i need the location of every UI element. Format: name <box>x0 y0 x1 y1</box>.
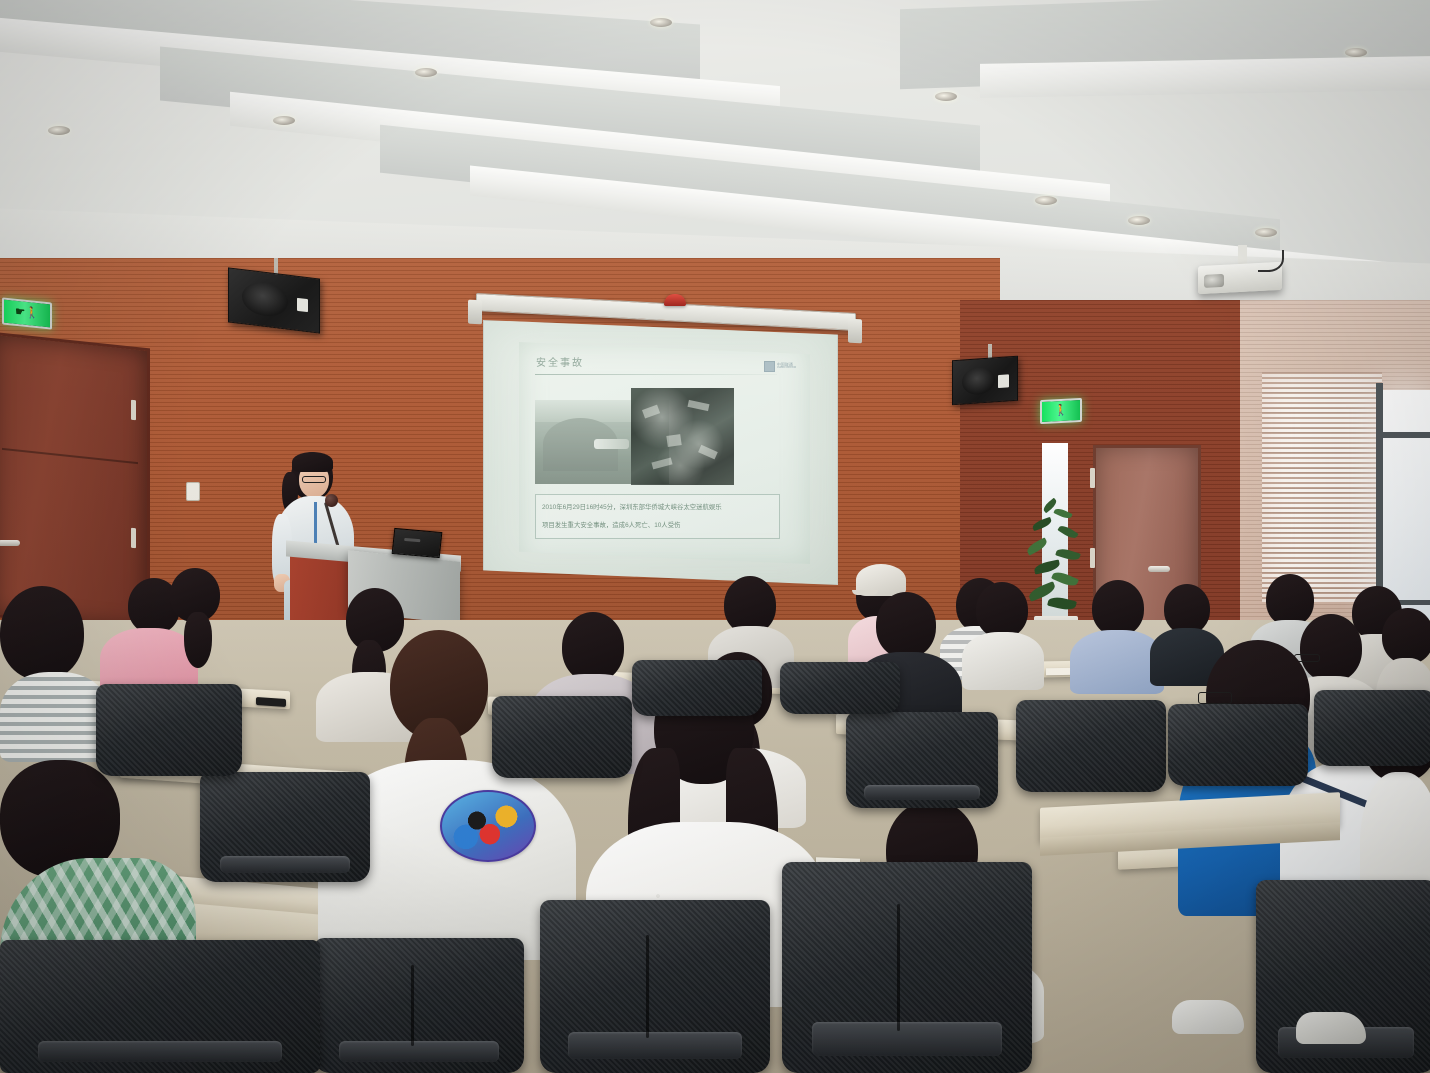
photo-ride-structure <box>594 439 629 448</box>
chair-row-far-2[interactable] <box>780 662 900 714</box>
attendee-ponytail <box>184 612 212 668</box>
exit-sign-left: ☛🚶 <box>2 297 52 329</box>
attendee-head <box>976 582 1028 638</box>
exit-running-man-icon: ☛🚶 <box>15 307 39 320</box>
debris-fragment <box>666 434 682 447</box>
chair-row3-center[interactable] <box>492 696 632 778</box>
downlight-1 <box>415 68 437 77</box>
attendee-near-left-striped <box>0 586 110 756</box>
attendee-head <box>1092 580 1144 636</box>
chair-slot <box>411 965 414 1046</box>
chair-foreground-right[interactable] <box>782 862 1032 1073</box>
chair-row3-right[interactable] <box>846 712 998 808</box>
downlight-5 <box>935 92 957 101</box>
door-right-handle[interactable] <box>1148 566 1170 572</box>
door-left-hinge-top <box>131 400 136 421</box>
presenter-hair-front <box>292 452 333 472</box>
speaker-badge <box>998 374 1009 388</box>
slide-caption-line-2: 项目发生重大安全事故，造成6人死亡、10人受伤 <box>542 520 680 529</box>
downlight-9 <box>1255 228 1277 237</box>
mickey-mouse-graphic <box>440 790 536 862</box>
plant-leaf <box>1031 517 1053 531</box>
logo-text-secondary: CHINA UNICOM <box>777 367 796 370</box>
laptop-logo <box>404 538 420 542</box>
slide-title: 安全事故 <box>536 354 584 369</box>
chair-foreground-far-right[interactable] <box>1256 880 1430 1073</box>
door-left-seam <box>2 447 138 463</box>
projector-lens <box>1204 274 1224 288</box>
door-right-hinge-top <box>1090 468 1095 488</box>
chair-slot <box>897 904 900 1031</box>
attendee-head <box>1164 584 1210 634</box>
speaker-right <box>952 356 1018 406</box>
downlight-7 <box>1345 48 1367 57</box>
plant-leaf <box>1053 507 1072 521</box>
chair-row-far-1[interactable] <box>632 660 762 716</box>
attendee-torso <box>962 632 1044 690</box>
chair-lumbar-support <box>864 785 980 800</box>
chair-row2-left[interactable] <box>200 772 370 882</box>
light-switch[interactable] <box>186 482 200 501</box>
speaker-badge <box>297 298 308 312</box>
shoe-1 <box>1172 1000 1244 1034</box>
downlight-3 <box>48 126 70 135</box>
plant-leaf <box>1025 537 1049 555</box>
attendee-torso <box>0 672 110 762</box>
microphone-head <box>325 494 338 507</box>
chair-lumbar-support <box>568 1032 743 1060</box>
speaker-cone <box>962 366 995 396</box>
debris-fragment <box>642 405 660 419</box>
presenter-badge-lanyard <box>314 502 317 546</box>
chair-row4-right[interactable] <box>1168 704 1308 786</box>
lecture-room-photo: ☛🚶 🚶 <box>0 0 1430 1073</box>
attendee-head <box>0 586 84 680</box>
screen-endcap-left <box>468 300 482 325</box>
downlight-6 <box>1035 196 1057 205</box>
attendee-mid-right-2 <box>962 582 1046 686</box>
slide-photo-wreckage <box>631 388 734 485</box>
downlight-8 <box>1128 216 1150 225</box>
exit-sign-right: 🚶 <box>1040 398 1082 424</box>
chair-row3-far-right[interactable] <box>1016 700 1166 792</box>
laptop[interactable] <box>392 528 443 558</box>
chair-slot <box>646 935 649 1039</box>
window-mullion-horizontal <box>1376 432 1430 438</box>
chair-lumbar-support <box>220 856 349 874</box>
attendee-back-left-2 <box>164 568 230 678</box>
attendee-head <box>876 592 936 658</box>
slide-caption-box: 2010年6月29日16时45分，深圳东部华侨城大峡谷太空迷航娱乐 项目发生重大… <box>535 494 780 539</box>
exit-running-man-icon-2: 🚶 <box>1054 405 1068 417</box>
debris-fragment <box>698 445 717 459</box>
slide-title-rule <box>535 374 777 375</box>
fire-alarm-indicator <box>664 294 686 306</box>
presenter-glasses <box>302 476 326 483</box>
chair-foreground-center[interactable] <box>540 900 770 1073</box>
logo-mark-icon <box>764 361 775 372</box>
door-left-handle[interactable] <box>0 540 20 546</box>
chair-row3-left[interactable] <box>96 684 242 776</box>
chair-row2-left-2[interactable] <box>0 940 320 1073</box>
chair-lumbar-support <box>339 1041 499 1063</box>
debris-fragment <box>651 457 672 469</box>
slide-logo: 中国联通 CHINA UNICOM <box>764 361 796 372</box>
speaker-cone <box>242 280 289 320</box>
plant-leaf <box>1057 523 1078 540</box>
chair-lumbar-support <box>38 1041 281 1062</box>
downlight-4 <box>650 18 672 27</box>
shoe-2 <box>1296 1012 1366 1044</box>
chair-row4-far-right[interactable] <box>1314 690 1430 766</box>
attendee-glasses <box>1198 692 1232 704</box>
downlight-2 <box>273 116 295 125</box>
slide-caption-line-1: 2010年6月29日16时45分，深圳东部华侨城大峡谷太空迷航娱乐 <box>542 502 722 511</box>
window-blinds[interactable] <box>1262 372 1382 602</box>
debris-fragment <box>687 400 709 411</box>
chair-lumbar-support <box>812 1022 1002 1056</box>
screen-endcap-right <box>848 319 862 344</box>
slide: 安全事故 中国联通 CHINA UNICOM 2010年6月29日16时45分，… <box>519 342 810 564</box>
door-left-hinge-bottom <box>131 528 136 549</box>
speaker-left <box>228 267 320 333</box>
chair-foreground-left[interactable] <box>314 938 524 1073</box>
